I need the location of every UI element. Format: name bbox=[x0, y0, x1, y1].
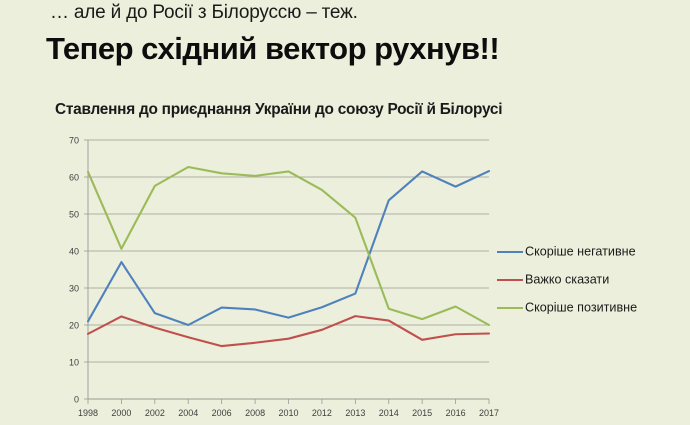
chart-series-line bbox=[88, 316, 489, 346]
x-axis-tick-label: 2015 bbox=[412, 408, 432, 418]
x-axis-tick-label: 2017 bbox=[479, 408, 499, 418]
x-axis-tick-label: 2004 bbox=[178, 408, 198, 418]
x-axis-tick-label: 2013 bbox=[345, 408, 365, 418]
slide-subheading: … але й до Росії з Білоруссю – теж. bbox=[50, 2, 358, 24]
line-chart: 0102030405060701998200020022004200620082… bbox=[0, 130, 690, 425]
chart-title: Ставлення до приєднання України до союзу… bbox=[55, 101, 502, 119]
legend-item-label: Скоріше позитивне bbox=[525, 300, 637, 314]
chart-canvas: 0102030405060701998200020022004200620082… bbox=[0, 130, 690, 425]
x-axis-tick-label: 2010 bbox=[278, 408, 298, 418]
x-axis-tick-label: 2014 bbox=[379, 408, 399, 418]
y-axis-tick-label: 60 bbox=[69, 172, 79, 182]
y-axis-tick-label: 10 bbox=[69, 357, 79, 367]
y-axis-tick-label: 40 bbox=[69, 246, 79, 256]
x-axis-tick-label: 2012 bbox=[312, 408, 332, 418]
y-axis-tick-label: 20 bbox=[69, 320, 79, 330]
legend-item-label: Важко сказати bbox=[525, 272, 609, 286]
x-axis-tick-label: 2000 bbox=[111, 408, 131, 418]
y-axis-tick-label: 30 bbox=[69, 283, 79, 293]
legend-item-label: Скоріше негативне bbox=[525, 244, 636, 258]
chart-series-line bbox=[88, 171, 489, 325]
slide-headline: Тепер східний вектор рухнув!! bbox=[46, 31, 499, 67]
x-axis-tick-label: 1998 bbox=[78, 408, 98, 418]
slide-canvas: … але й до Росії з Білоруссю – теж. Тепе… bbox=[0, 0, 690, 425]
x-axis-tick-label: 2006 bbox=[212, 408, 232, 418]
y-axis-tick-label: 70 bbox=[69, 135, 79, 145]
y-axis-tick-label: 50 bbox=[69, 209, 79, 219]
x-axis-tick-label: 2008 bbox=[245, 408, 265, 418]
y-axis-tick-label: 0 bbox=[74, 394, 79, 404]
x-axis-tick-label: 2016 bbox=[446, 408, 466, 418]
x-axis-tick-label: 2002 bbox=[145, 408, 165, 418]
